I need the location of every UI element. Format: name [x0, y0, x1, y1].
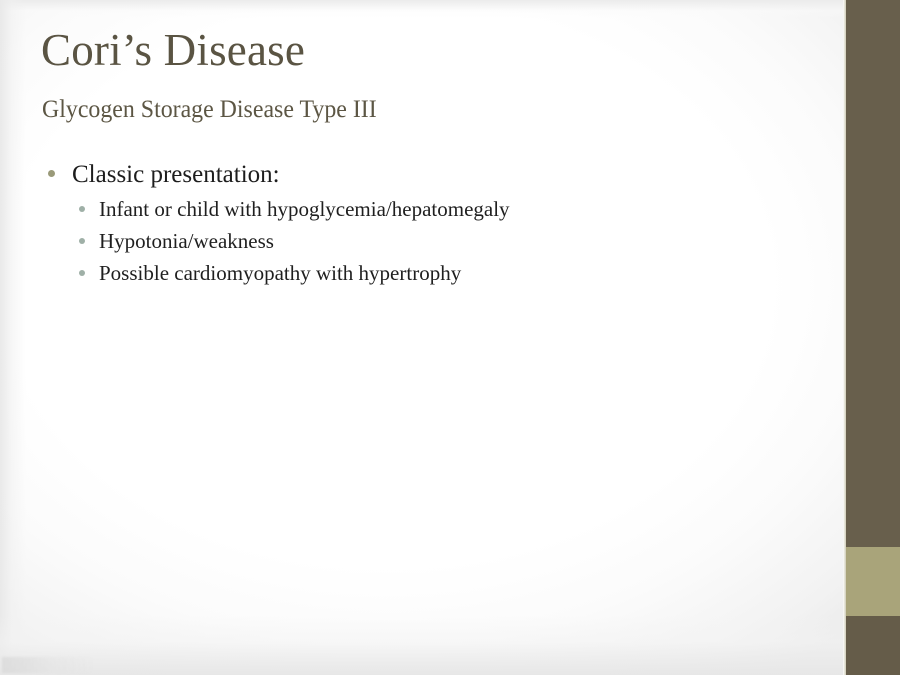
- slide-title: Cori’s Disease: [41, 27, 305, 74]
- sub-bullet-dot-icon: [79, 238, 85, 244]
- bullet-level2-label: Infant or child with hypoglycemia/hepato…: [99, 195, 510, 224]
- bullet-level1: Classic presentation:: [44, 158, 824, 191]
- decorative-side-rail: [843, 0, 900, 675]
- bullet-level2-label: Hypotonia/weakness: [99, 227, 274, 256]
- presentation-slide: Cori’s Disease Glycogen Storage Disease …: [0, 0, 900, 675]
- bullet-level2: Infant or child with hypoglycemia/hepato…: [79, 195, 824, 224]
- slide-content: Cori’s Disease Glycogen Storage Disease …: [0, 0, 843, 675]
- bullet-level2: Hypotonia/weakness: [79, 227, 824, 256]
- sub-bullet-dot-icon: [79, 206, 85, 212]
- sub-bullet-dot-icon: [79, 270, 85, 276]
- slide-subtitle: Glycogen Storage Disease Type III: [42, 96, 377, 124]
- bullet-list: Classic presentation: Infant or child wi…: [44, 158, 824, 290]
- rail-segment-accent: [846, 547, 900, 616]
- rail-segment-bottom: [846, 616, 900, 675]
- bullet-level2-label: Possible cardiomyopathy with hypertrophy: [99, 259, 461, 288]
- bullet-level1-label: Classic presentation:: [72, 158, 280, 191]
- rail-segment-top: [846, 0, 900, 547]
- sub-bullet-list: Infant or child with hypoglycemia/hepato…: [79, 195, 824, 287]
- bullet-level2: Possible cardiomyopathy with hypertrophy: [79, 259, 824, 288]
- bullet-dot-icon: [48, 170, 55, 177]
